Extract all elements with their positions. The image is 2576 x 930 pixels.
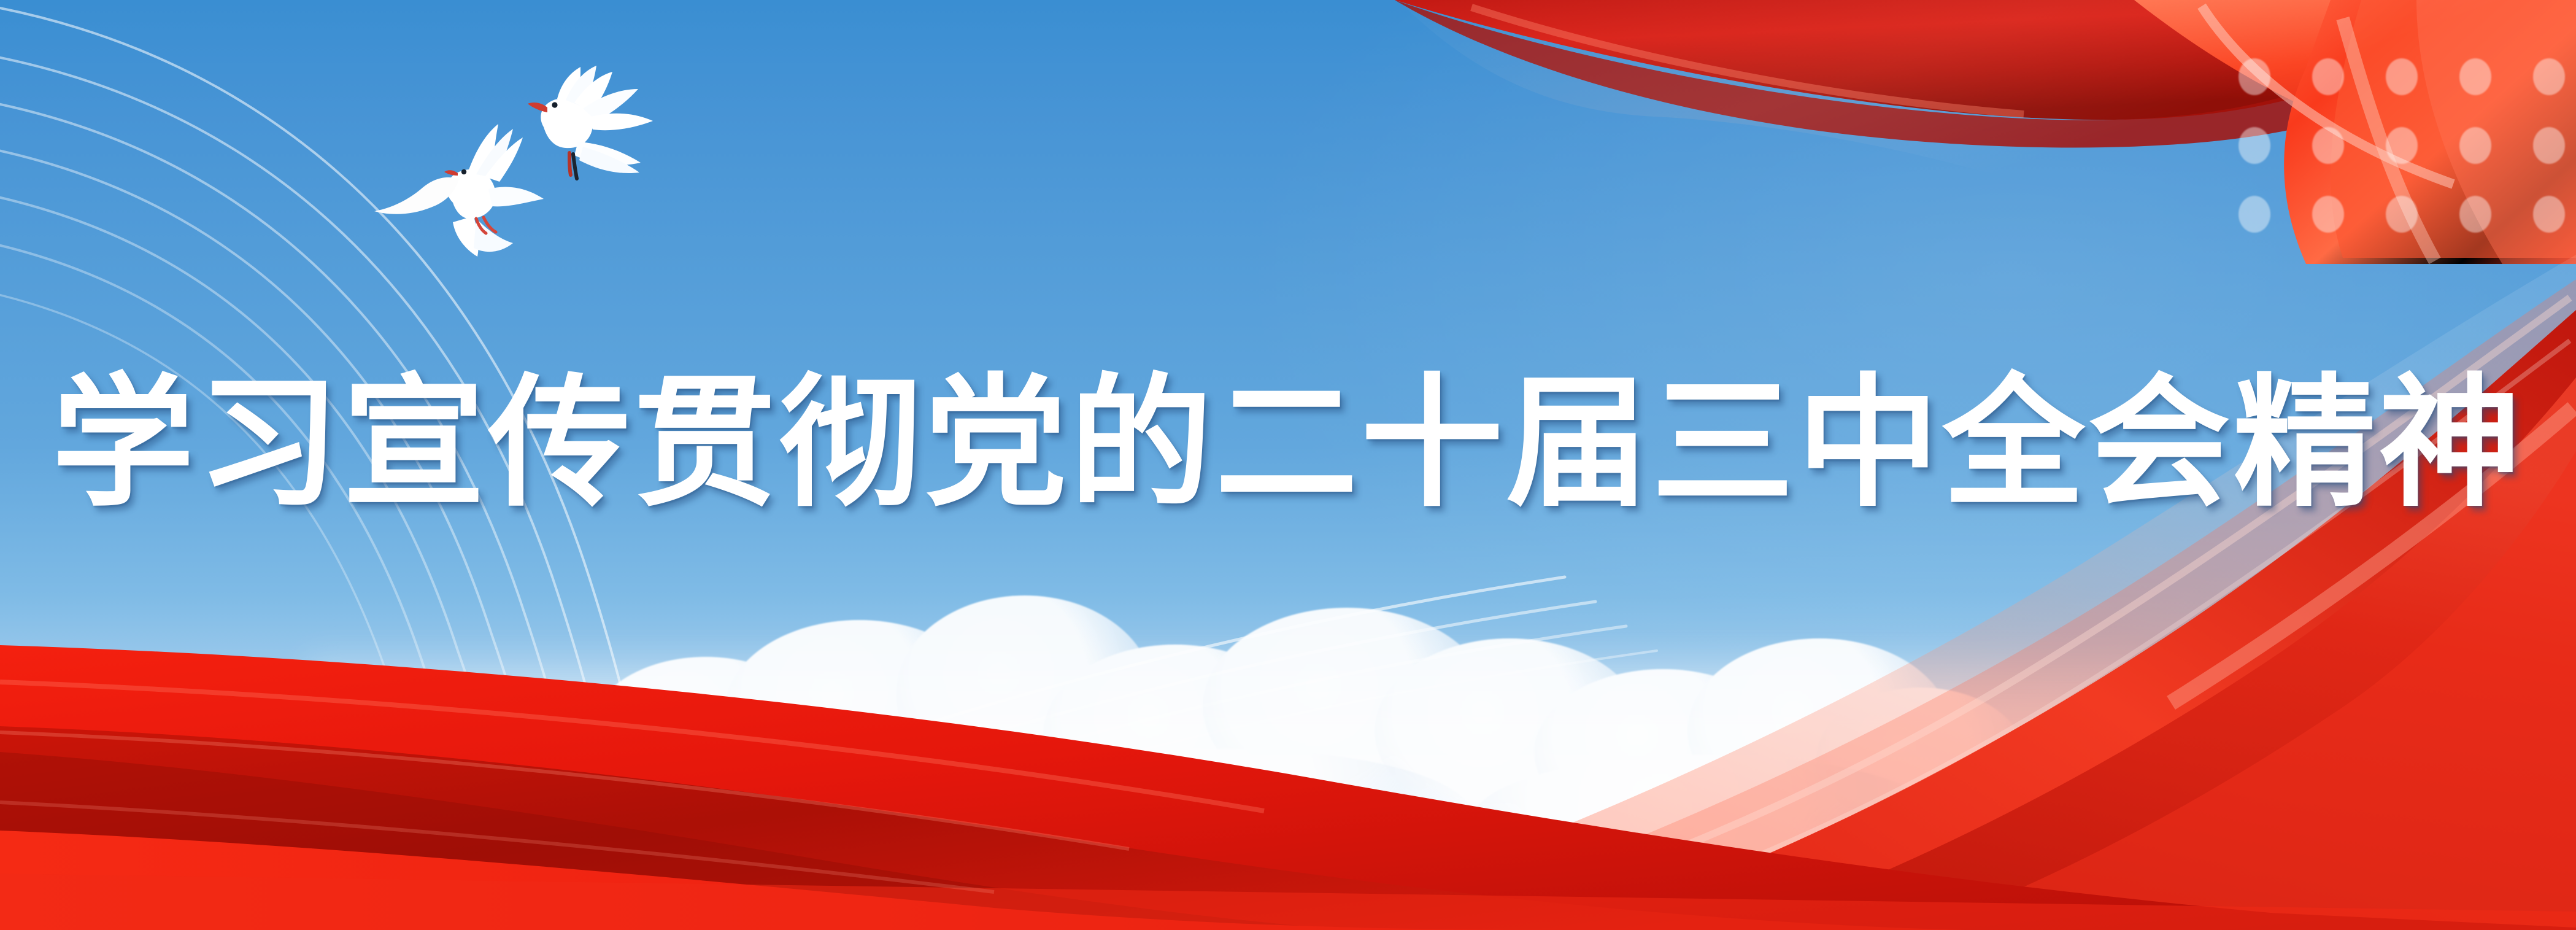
propaganda-banner: 学习宣传贯彻党的二十届三中全会精神 [0, 0, 2576, 930]
red-wave-bottom [0, 586, 2576, 930]
red-ribbon-top-right [1287, 0, 2576, 264]
dove-right-icon [491, 64, 681, 218]
